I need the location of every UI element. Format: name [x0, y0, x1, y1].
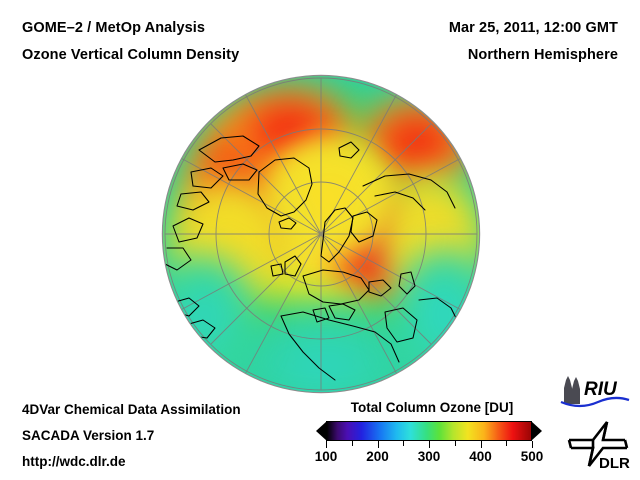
colorbar-tick-label: 200: [366, 449, 389, 464]
colorbar-major-tick: [378, 441, 379, 448]
riu-logo: RIU: [558, 374, 632, 408]
colorbar-extend-high-arrow: [531, 421, 542, 441]
globe-map: [163, 76, 479, 392]
ozone-field: [163, 76, 479, 392]
colorbar-minor-tick: [403, 441, 404, 446]
colorbar-tick-label: 100: [315, 449, 338, 464]
colorbar-tick-label: 500: [521, 449, 544, 464]
footer-url[interactable]: http://wdc.dlr.de: [22, 454, 126, 469]
header-region: Northern Hemisphere: [468, 47, 618, 63]
colorbar-title: Total Column Ozone [DU]: [320, 400, 544, 415]
colorbar-ticks: [326, 441, 532, 448]
colorbar-minor-tick: [352, 441, 353, 446]
coastlines: [163, 76, 479, 392]
colorbar-tick-label: 300: [418, 449, 441, 464]
colorbar-gradient: [326, 421, 532, 441]
colorbar-major-tick: [481, 441, 482, 448]
header-datetime: Mar 25, 2011, 12:00 GMT: [449, 20, 618, 36]
colorbar-minor-tick: [506, 441, 507, 446]
colorbar-minor-tick: [455, 441, 456, 446]
footer-version: SACADA Version 1.7: [22, 428, 154, 443]
cathedral-icon: [564, 376, 580, 404]
footer-method: 4DVar Chemical Data Assimilation: [22, 402, 241, 417]
colorbar: [316, 421, 542, 441]
colorbar-major-tick: [326, 441, 327, 448]
dlr-logo: DLR: [563, 418, 633, 470]
header-title-line1: GOME–2 / MetOp Analysis: [22, 20, 205, 36]
colorbar-major-tick: [532, 441, 533, 448]
header-title-line2: Ozone Vertical Column Density: [22, 47, 239, 63]
dlr-logo-text: DLR: [599, 455, 630, 470]
visualization-page: GOME–2 / MetOp Analysis Ozone Vertical C…: [0, 0, 640, 480]
riu-logo-text: RIU: [584, 379, 618, 400]
colorbar-tick-labels: 100200300400500: [326, 449, 532, 467]
colorbar-tick-label: 400: [469, 449, 492, 464]
colorbar-major-tick: [429, 441, 430, 448]
